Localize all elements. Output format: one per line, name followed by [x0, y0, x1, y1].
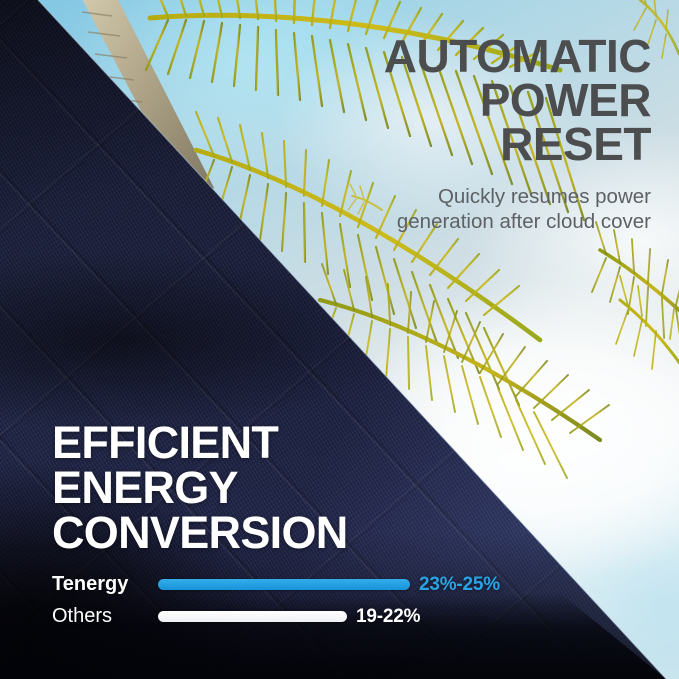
chart-row-tenergy: Tenergy 23%-25%	[52, 571, 592, 598]
marketing-image: AUTOMATIC POWER RESET Quickly resumes po…	[0, 0, 679, 679]
top-headline: AUTOMATIC POWER RESET	[321, 34, 651, 166]
chart-row-others: Others 19-22%	[52, 603, 592, 630]
bottom-headline: EFFICIENT ENERGY CONVERSION	[52, 420, 592, 555]
top-subcopy: Quickly resumes power generation after c…	[321, 184, 651, 234]
chart-bar-tenergy	[158, 579, 410, 590]
bottom-headline-line-1: EFFICIENT	[52, 420, 592, 465]
top-subcopy-line-2: generation after cloud cover	[321, 209, 651, 234]
bottom-message-block: EFFICIENT ENERGY CONVERSION Tenergy 23%-…	[52, 420, 592, 630]
top-headline-line-1: AUTOMATIC	[321, 34, 651, 78]
chart-value-tenergy: 23%-25%	[419, 574, 500, 596]
bottom-headline-line-2: ENERGY	[52, 465, 592, 510]
chart-bar-others	[158, 611, 347, 622]
top-headline-line-2: POWER	[321, 78, 651, 122]
chart-label-tenergy: Tenergy	[52, 573, 158, 596]
chart-label-others: Others	[52, 605, 158, 628]
top-message-block: AUTOMATIC POWER RESET Quickly resumes po…	[321, 34, 651, 234]
chart-value-others: 19-22%	[356, 606, 420, 628]
top-headline-line-3: RESET	[321, 122, 651, 166]
efficiency-comparison-chart: Tenergy 23%-25% Others 19-22%	[52, 571, 592, 630]
bottom-headline-line-3: CONVERSION	[52, 510, 592, 555]
palm-frond-right-edge	[592, 222, 679, 382]
top-subcopy-line-1: Quickly resumes power	[321, 184, 651, 209]
